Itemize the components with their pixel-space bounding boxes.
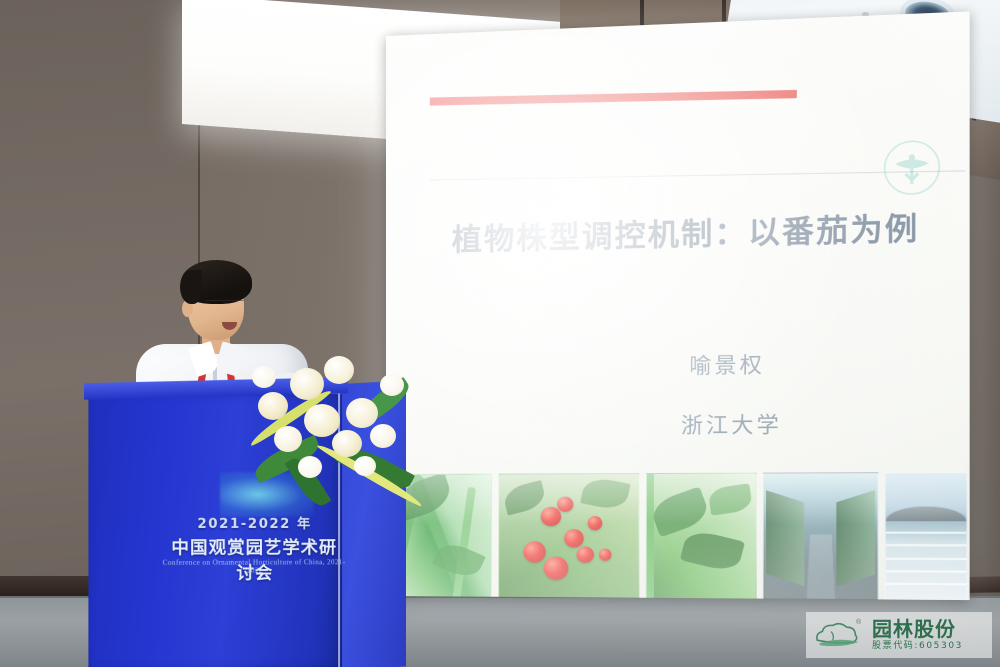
slide-affiliation: 浙江大学 — [681, 408, 782, 440]
watermark-stock-code: 股票代码:605303 — [872, 642, 963, 651]
lily-bloom — [252, 366, 276, 388]
photo-tomato-foliage-greenhouse — [646, 473, 757, 600]
rose-bloom — [332, 430, 362, 457]
podium-conference-title-en: Conference on Ornamental Horticulture of… — [162, 558, 346, 575]
watermark-brand-name: 园林股份 — [872, 619, 963, 639]
lily-bloom — [298, 456, 322, 478]
registered-trademark-mark: ® — [856, 619, 861, 626]
speaker-brow — [206, 300, 244, 309]
rose-bloom — [274, 426, 302, 452]
lily-bloom — [370, 424, 396, 448]
projection-screen: 植物株型调控机制：以番茄为例 喻景权 浙江大学 — [386, 11, 970, 600]
photo-greenhouse-complex-aerial — [885, 472, 968, 600]
zhejiang-university-emblem-icon — [880, 136, 943, 199]
photo-greenhouse-interior-aisle — [763, 472, 878, 600]
broadcaster-watermark: ® 园林股份 股票代码:605303 — [806, 612, 992, 658]
rose-bloom — [290, 368, 324, 400]
presentation-photo-scene: 植物株型调控机制：以番茄为例 喻景权 浙江大学 — [0, 0, 1000, 667]
slide-photo-strip — [386, 472, 970, 600]
rose-bloom — [258, 392, 288, 420]
rose-bloom — [304, 404, 340, 437]
watermark-text-block: 园林股份 股票代码:605303 — [872, 619, 963, 651]
garden-cloud-tree-logo-icon: ® — [812, 617, 864, 653]
slide-title: 植物株型调控机制：以番茄为例 — [452, 210, 944, 261]
speaker-hair-side — [180, 270, 202, 304]
rose-bloom — [346, 398, 378, 428]
photo-ripe-tomato-cluster — [498, 473, 639, 600]
rose-bloom — [324, 356, 354, 384]
lily-bloom — [380, 374, 404, 396]
slide-accent-bar — [430, 90, 797, 106]
lily-bloom — [354, 456, 376, 476]
slide-author: 喻景权 — [689, 349, 765, 381]
flower-arrangement — [250, 352, 420, 542]
